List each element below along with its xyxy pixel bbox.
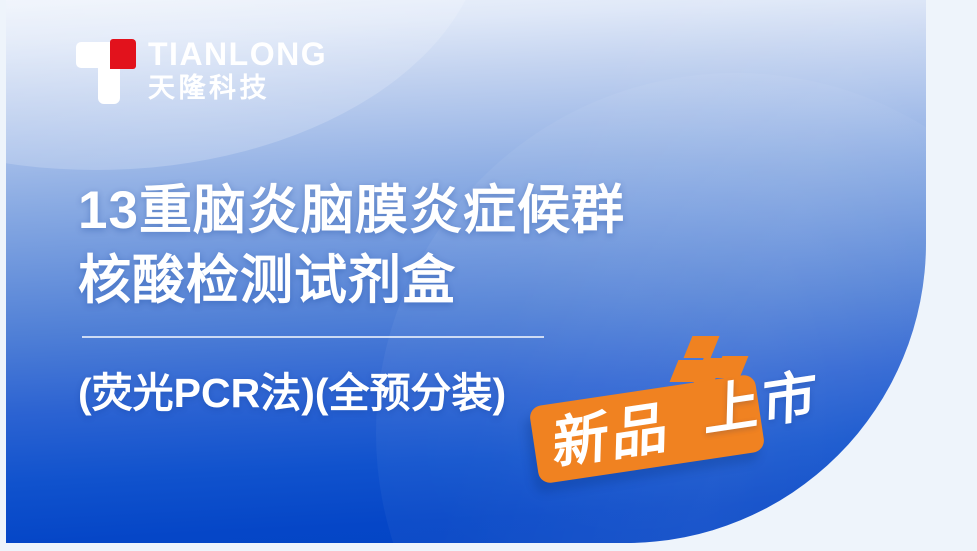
headline-line-1: 13重脑炎脑膜炎症候群 (78, 176, 625, 246)
headline-divider (82, 336, 544, 338)
brand-name-en: TIANLONG (148, 38, 327, 72)
new-product-badge: 新品 上市 (522, 330, 922, 500)
badge-side-label: 上市 (704, 357, 821, 449)
product-promo-banner: TIANLONG 天隆科技 13重脑炎脑膜炎症候群 核酸检测试剂盒 (荧光PCR… (0, 0, 977, 551)
tianlong-t-logo-icon (76, 36, 134, 104)
product-headline: 13重脑炎脑膜炎症候群 核酸检测试剂盒 (78, 176, 625, 317)
brand-name-cn: 天隆科技 (148, 73, 327, 104)
headline-line-2: 核酸检测试剂盒 (78, 246, 625, 316)
product-subtitle: (荧光PCR法)(全预分装) (78, 359, 506, 419)
brand-logo: TIANLONG 天隆科技 (76, 36, 327, 104)
spark-mark-a-icon (684, 336, 720, 358)
brand-wordmark: TIANLONG 天隆科技 (148, 36, 327, 104)
logo-mark-red-square (110, 39, 136, 69)
